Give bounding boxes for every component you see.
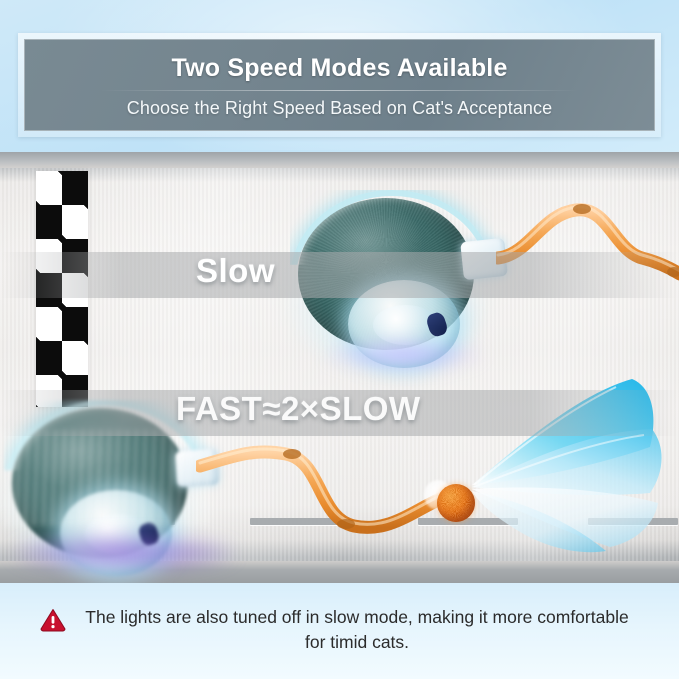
motion-speed-streaks bbox=[0, 430, 210, 526]
header-divider bbox=[100, 90, 578, 91]
slow-label-band bbox=[0, 252, 679, 298]
slow-mode-label: Slow bbox=[196, 252, 275, 290]
road-top-edge bbox=[0, 152, 679, 168]
header-panel: Two Speed Modes Available Choose the Rig… bbox=[24, 39, 655, 131]
bottom-note: The lights are also tuned off in slow mo… bbox=[0, 583, 679, 679]
slow-ball-underglow bbox=[324, 340, 484, 370]
header-banner: Two Speed Modes Available Choose the Rig… bbox=[18, 33, 661, 137]
note-text: The lights are also tuned off in slow mo… bbox=[75, 605, 640, 655]
fast-wand-stick bbox=[196, 444, 456, 554]
warning-triangle-icon bbox=[40, 608, 66, 637]
product-infographic: Two Speed Modes Available Choose the Rig… bbox=[0, 0, 679, 679]
wand-path bbox=[196, 444, 456, 554]
page-subtitle: Choose the Right Speed Based on Cat's Ac… bbox=[127, 99, 553, 117]
fast-mode-label: FAST≈2×SLOW bbox=[176, 390, 421, 428]
page-title: Two Speed Modes Available bbox=[171, 56, 507, 81]
